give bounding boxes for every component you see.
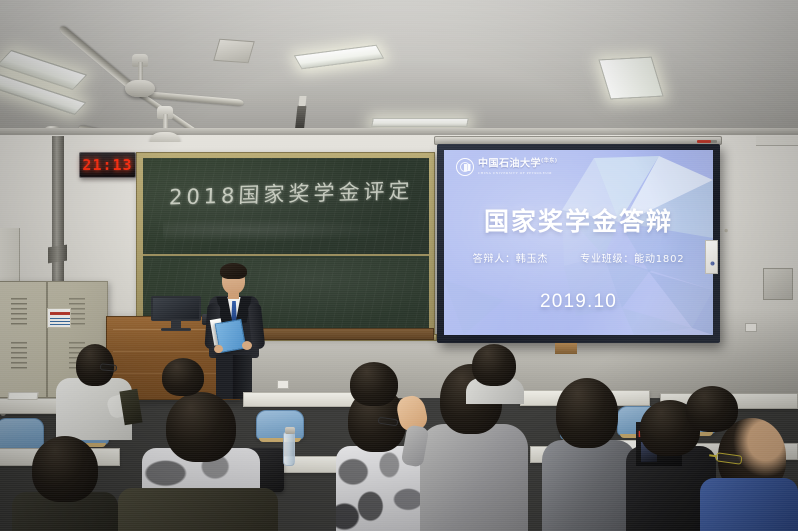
student-audience-member bbox=[118, 470, 278, 531]
student-audience-member bbox=[470, 344, 518, 400]
cabinet-vent bbox=[69, 298, 85, 328]
student-head bbox=[166, 392, 236, 462]
student-top bbox=[542, 440, 636, 531]
student-sweater bbox=[420, 424, 528, 531]
student-head bbox=[162, 358, 204, 396]
wall-moulding bbox=[756, 136, 798, 146]
student-audience-member bbox=[12, 436, 118, 531]
desk-paper bbox=[8, 392, 39, 400]
student-presenter bbox=[205, 259, 265, 399]
student-audience-member bbox=[542, 378, 636, 531]
student-head bbox=[350, 362, 398, 406]
student-dark-top bbox=[118, 488, 278, 531]
university-seal-icon bbox=[456, 158, 474, 176]
front-teacher-desk bbox=[238, 328, 434, 340]
fan-motor bbox=[125, 80, 155, 97]
monitor-base bbox=[161, 328, 191, 331]
university-name-cn: 中国石油大学(华东) bbox=[478, 159, 558, 170]
wall-outlet[interactable] bbox=[745, 323, 757, 332]
projection-screen[interactable]: 中国石油大学(华东) CHINA UNIVERSITY OF PETROLEUM… bbox=[437, 144, 720, 343]
cabinet-vent bbox=[11, 342, 27, 372]
presenter-name-label: 答辩人：韩玉杰 bbox=[473, 254, 549, 265]
student-head bbox=[32, 436, 98, 502]
pipe-joint bbox=[48, 245, 67, 264]
chalk-smudge bbox=[163, 218, 403, 242]
student-blue-top bbox=[700, 478, 798, 531]
screen-mount-bracket bbox=[555, 343, 577, 354]
clock-time-display: 21:13 bbox=[82, 156, 132, 174]
student-audience-member bbox=[162, 352, 204, 396]
ceiling bbox=[0, 0, 798, 142]
wall-panel-box bbox=[763, 268, 793, 300]
student-head bbox=[556, 378, 618, 448]
class-label: 专业班级：能动1802 bbox=[580, 254, 684, 265]
desktop-monitor[interactable] bbox=[151, 296, 201, 329]
chalkboard-upper-panel: 2018国家奖学金评定 bbox=[143, 158, 429, 256]
monitor-screen bbox=[151, 296, 201, 321]
university-name-en: CHINA UNIVERSITY OF PETROLEUM bbox=[478, 171, 558, 175]
cabinet-vent bbox=[11, 298, 27, 328]
slide-subtitle-line: 答辩人：韩玉杰 专业班级：能动1802 bbox=[444, 250, 713, 265]
campus-suffix: (华东) bbox=[541, 158, 558, 164]
slide-title: 国家奖学金答辩 bbox=[444, 202, 713, 238]
led-wall-clock: 21:13 bbox=[79, 152, 136, 178]
wall-ceiling-trim bbox=[0, 128, 798, 135]
ceiling-air-vent bbox=[213, 39, 255, 64]
wall-outlet[interactable] bbox=[277, 380, 289, 389]
presenter-hand bbox=[242, 341, 252, 350]
classroom-photo-scene: 21:13 2018国家奖学金评定 bbox=[0, 0, 798, 531]
cabinet-door-split bbox=[46, 282, 48, 397]
presenter-glasses-icon bbox=[224, 277, 243, 282]
fan-motor bbox=[150, 132, 180, 142]
university-logo: 中国石油大学(华东) CHINA UNIVERSITY OF PETROLEUM bbox=[456, 158, 558, 176]
student-head bbox=[686, 386, 738, 432]
fluorescent-light-fixture bbox=[371, 118, 469, 127]
water-bottle bbox=[283, 432, 295, 466]
student-in-white-shirt bbox=[56, 344, 132, 436]
slide-date: 2019.10 bbox=[444, 291, 713, 313]
bottle-cap bbox=[285, 427, 295, 434]
student-audience-member bbox=[686, 386, 738, 430]
student-audience-member bbox=[350, 362, 398, 410]
classroom-chair[interactable] bbox=[256, 410, 304, 440]
powerpoint-slide: 中国石油大学(华东) CHINA UNIVERSITY OF PETROLEUM… bbox=[444, 150, 713, 335]
cabinet-warning-label bbox=[47, 308, 71, 328]
student-audience-member bbox=[700, 470, 798, 531]
student-head bbox=[472, 344, 516, 386]
